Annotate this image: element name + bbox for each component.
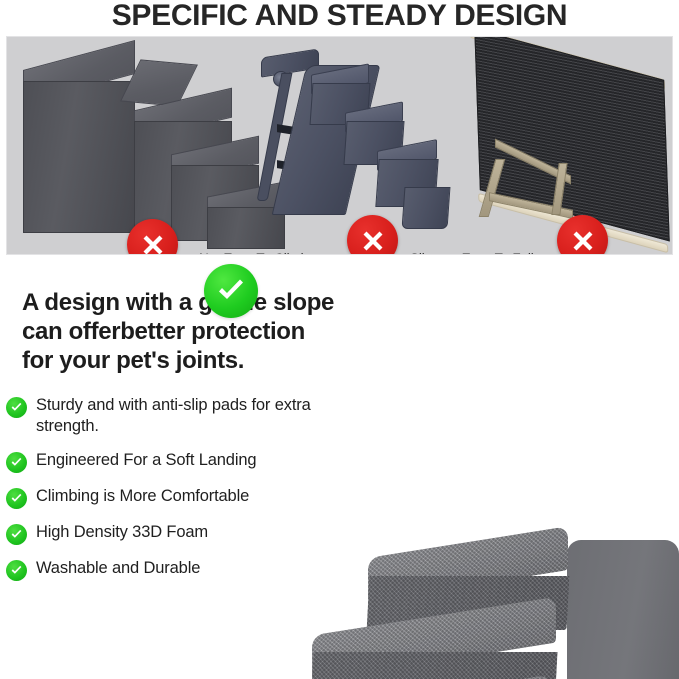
feature-label: Sturdy and with anti-slip pads for extra… — [36, 395, 326, 437]
feature-label: Climbing is More Comfortable — [36, 486, 249, 507]
positive-features-panel: A design with a gentle slope can offerbe… — [0, 256, 679, 679]
check-mark-icon — [6, 452, 27, 473]
feature-label: Washable and Durable — [36, 558, 200, 579]
check-mark-icon — [6, 488, 27, 509]
product-wooden-carpeted-ramp — [459, 51, 673, 241]
feature-item: High Density 33D Foam — [6, 522, 346, 545]
feature-item: Engineered For a Soft Landing — [6, 450, 346, 473]
feature-item: Washable and Durable — [6, 558, 346, 581]
negative-caption-not-easy-to-climb: Not Easy To Climb — [199, 251, 308, 255]
negative-caption-slippery-easy-to-fall: Slippery Easy To Fall — [410, 251, 534, 255]
headline-line-1: A design with a gentle slope — [22, 288, 352, 317]
feature-label: Engineered For a Soft Landing — [36, 450, 256, 471]
positive-headline: A design with a gentle slope can offerbe… — [22, 288, 352, 375]
feature-list: Sturdy and with anti-slip pads for extra… — [6, 395, 346, 594]
check-mark-icon-large — [204, 264, 258, 318]
feature-item: Sturdy and with anti-slip pads for extra… — [6, 395, 346, 437]
page-title: SPECIFIC AND STEADY DESIGN — [0, 0, 679, 34]
negative-examples-panel: Not Easy To Climb Slippery Easy To Fall — [6, 36, 673, 255]
check-mark-icon — [6, 524, 27, 545]
feature-label: High Density 33D Foam — [36, 522, 208, 543]
check-mark-icon — [6, 397, 27, 418]
product-foam-block-stairs — [11, 41, 243, 241]
product-plastic-folding-stairs — [253, 47, 463, 242]
headline-line-3: for your pet's joints. — [22, 346, 352, 375]
headline-line-2: can offerbetter protection — [22, 317, 352, 346]
beagle-dog-image — [455, 661, 679, 679]
feature-item: Climbing is More Comfortable — [6, 486, 346, 509]
check-mark-icon — [6, 560, 27, 581]
